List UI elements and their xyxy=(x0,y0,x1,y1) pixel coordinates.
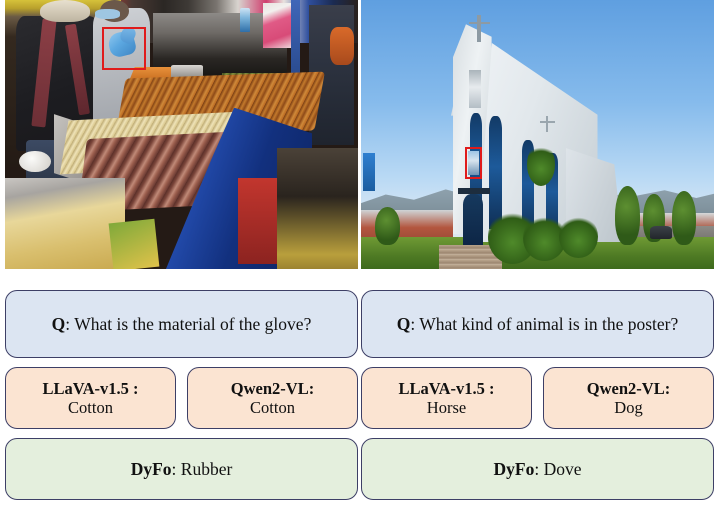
final-answer-dyfo-right: DyFo: Dove xyxy=(361,438,714,500)
wall-poster xyxy=(468,151,479,175)
church-building-photo xyxy=(361,0,714,269)
model-name-label: LLaVA-v1.5 : xyxy=(399,379,495,398)
model-answer-value: Cotton xyxy=(250,398,295,417)
model-answer-value: Horse xyxy=(427,398,466,417)
question-row-left: Q: What is the material of the glove? xyxy=(5,290,358,358)
final-answer-row-right: DyFo: Dove xyxy=(361,438,714,500)
model-name-label: Qwen2-VL: xyxy=(231,379,314,398)
model-answer-llava-right: LLaVA-v1.5 : Horse xyxy=(361,367,532,429)
example-column-right: Q: What kind of animal is in the poster?… xyxy=(361,0,714,506)
example-image-right xyxy=(361,0,714,269)
final-answer-dyfo-left: DyFo: Rubber xyxy=(5,438,358,500)
model-name-label: LLaVA-v1.5 : xyxy=(43,379,139,398)
model-answer-row-right: LLaVA-v1.5 : Horse Qwen2-VL: Dog xyxy=(361,367,714,429)
question-row-right: Q: What kind of animal is in the poster? xyxy=(361,290,714,358)
comparison-columns: Q: What is the material of the glove? LL… xyxy=(0,0,720,506)
model-answer-value: Cotton xyxy=(68,398,113,417)
model-answer-qwen-right: Qwen2-VL: Dog xyxy=(543,367,714,429)
final-answer-row-left: DyFo: Rubber xyxy=(5,438,358,500)
final-answer-text: DyFo: Dove xyxy=(494,459,582,480)
model-answer-row-left: LLaVA-v1.5 : Cotton Qwen2-VL: Cotton xyxy=(5,367,358,429)
example-column-left: Q: What is the material of the glove? LL… xyxy=(5,0,358,506)
figure-root: Q: What is the material of the glove? LL… xyxy=(0,0,720,506)
model-answer-value: Dog xyxy=(614,398,642,417)
final-answer-text: DyFo: Rubber xyxy=(131,459,233,480)
street-food-stall-photo xyxy=(5,0,358,269)
question-box-left: Q: What is the material of the glove? xyxy=(5,290,358,358)
model-answer-qwen-left: Qwen2-VL: Cotton xyxy=(187,367,358,429)
model-answer-llava-left: LLaVA-v1.5 : Cotton xyxy=(5,367,176,429)
question-box-right: Q: What kind of animal is in the poster? xyxy=(361,290,714,358)
question-text-left: Q: What is the material of the glove? xyxy=(52,314,312,335)
model-name-label: Qwen2-VL: xyxy=(587,379,670,398)
question-text-right: Q: What kind of animal is in the poster? xyxy=(397,314,679,335)
example-image-left xyxy=(5,0,358,269)
